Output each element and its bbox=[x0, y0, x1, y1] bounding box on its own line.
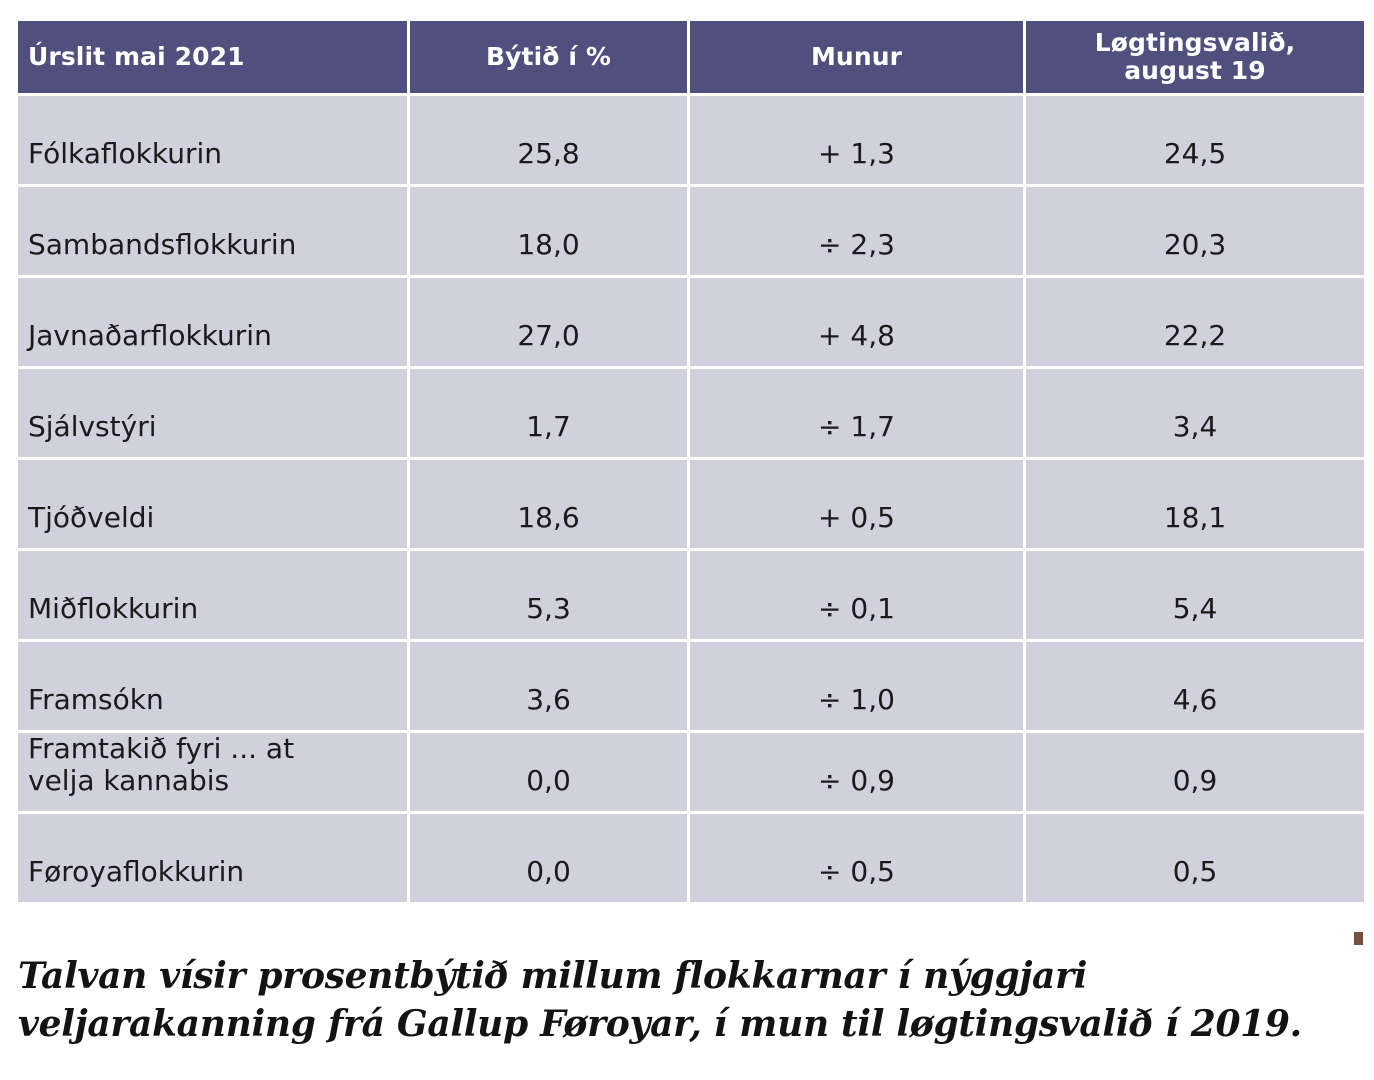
table-header-row: Úrslit mai 2021 Býtið í % Munur Løgtings… bbox=[18, 21, 1364, 93]
cell-previous-election: 5,4 bbox=[1026, 551, 1364, 639]
cell-share-percent: 5,3 bbox=[410, 551, 687, 639]
cell-previous-election: 24,5 bbox=[1026, 96, 1364, 184]
cell-party-name: Føroyaflokkurin bbox=[18, 814, 407, 902]
cell-party-name: Sambandsflokkurin bbox=[18, 187, 407, 275]
cell-share-percent: 25,8 bbox=[410, 96, 687, 184]
cell-party-name: Framtakið fyri ... atvelja kannabis bbox=[18, 733, 407, 811]
cell-share-percent: 1,7 bbox=[410, 369, 687, 457]
cell-party-name: Tjóðveldi bbox=[18, 460, 407, 548]
table-row: Tjóðveldi18,6+ 0,518,1 bbox=[18, 460, 1364, 548]
table-body: Fólkaflokkurin25,8+ 1,324,5Sambandsflokk… bbox=[18, 96, 1364, 902]
cell-share-percent: 0,0 bbox=[410, 814, 687, 902]
table-row: Javnaðarflokkurin27,0+ 4,822,2 bbox=[18, 278, 1364, 366]
table-row: Framsókn3,6÷ 1,04,6 bbox=[18, 642, 1364, 730]
cell-party-name: Framsókn bbox=[18, 642, 407, 730]
cell-difference: + 4,8 bbox=[690, 278, 1023, 366]
column-header-party: Úrslit mai 2021 bbox=[18, 21, 407, 93]
cell-share-percent: 27,0 bbox=[410, 278, 687, 366]
cell-share-percent: 0,0 bbox=[410, 733, 687, 811]
cell-party-name: Miðflokkurin bbox=[18, 551, 407, 639]
cell-difference: ÷ 1,7 bbox=[690, 369, 1023, 457]
stray-mark-icon bbox=[1354, 932, 1363, 945]
cell-previous-election: 20,3 bbox=[1026, 187, 1364, 275]
cell-previous-election: 0,9 bbox=[1026, 733, 1364, 811]
table-row: Føroyaflokkurin0,0÷ 0,50,5 bbox=[18, 814, 1364, 902]
table-row: Framtakið fyri ... atvelja kannabis0,0÷ … bbox=[18, 733, 1364, 811]
cell-previous-election: 3,4 bbox=[1026, 369, 1364, 457]
cell-party-name: Fólkaflokkurin bbox=[18, 96, 407, 184]
table-row: Fólkaflokkurin25,8+ 1,324,5 bbox=[18, 96, 1364, 184]
cell-previous-election: 18,1 bbox=[1026, 460, 1364, 548]
cell-previous-election: 0,5 bbox=[1026, 814, 1364, 902]
cell-difference: ÷ 0,1 bbox=[690, 551, 1023, 639]
cell-share-percent: 18,6 bbox=[410, 460, 687, 548]
column-header-previous-election: Løgtingsvalið,august 19 bbox=[1026, 21, 1364, 93]
cell-previous-election: 4,6 bbox=[1026, 642, 1364, 730]
cell-difference: + 1,3 bbox=[690, 96, 1023, 184]
cell-difference: ÷ 0,9 bbox=[690, 733, 1023, 811]
table-header: Úrslit mai 2021 Býtið í % Munur Løgtings… bbox=[18, 21, 1364, 93]
cell-difference: ÷ 2,3 bbox=[690, 187, 1023, 275]
table-caption: Talvan vísir prosentbýtið millum flokkar… bbox=[18, 953, 1358, 1048]
table-row: Sjálvstýri1,7÷ 1,73,4 bbox=[18, 369, 1364, 457]
column-header-difference: Munur bbox=[690, 21, 1023, 93]
table-row: Sambandsflokkurin18,0÷ 2,320,3 bbox=[18, 187, 1364, 275]
cell-difference: ÷ 0,5 bbox=[690, 814, 1023, 902]
election-results-table: Úrslit mai 2021 Býtið í % Munur Løgtings… bbox=[15, 18, 1367, 905]
cell-share-percent: 18,0 bbox=[410, 187, 687, 275]
cell-difference: + 0,5 bbox=[690, 460, 1023, 548]
cell-previous-election: 22,2 bbox=[1026, 278, 1364, 366]
cell-party-name: Sjálvstýri bbox=[18, 369, 407, 457]
table-row: Miðflokkurin5,3÷ 0,15,4 bbox=[18, 551, 1364, 639]
cell-share-percent: 3,6 bbox=[410, 642, 687, 730]
column-header-share: Býtið í % bbox=[410, 21, 687, 93]
cell-difference: ÷ 1,0 bbox=[690, 642, 1023, 730]
cell-party-name: Javnaðarflokkurin bbox=[18, 278, 407, 366]
